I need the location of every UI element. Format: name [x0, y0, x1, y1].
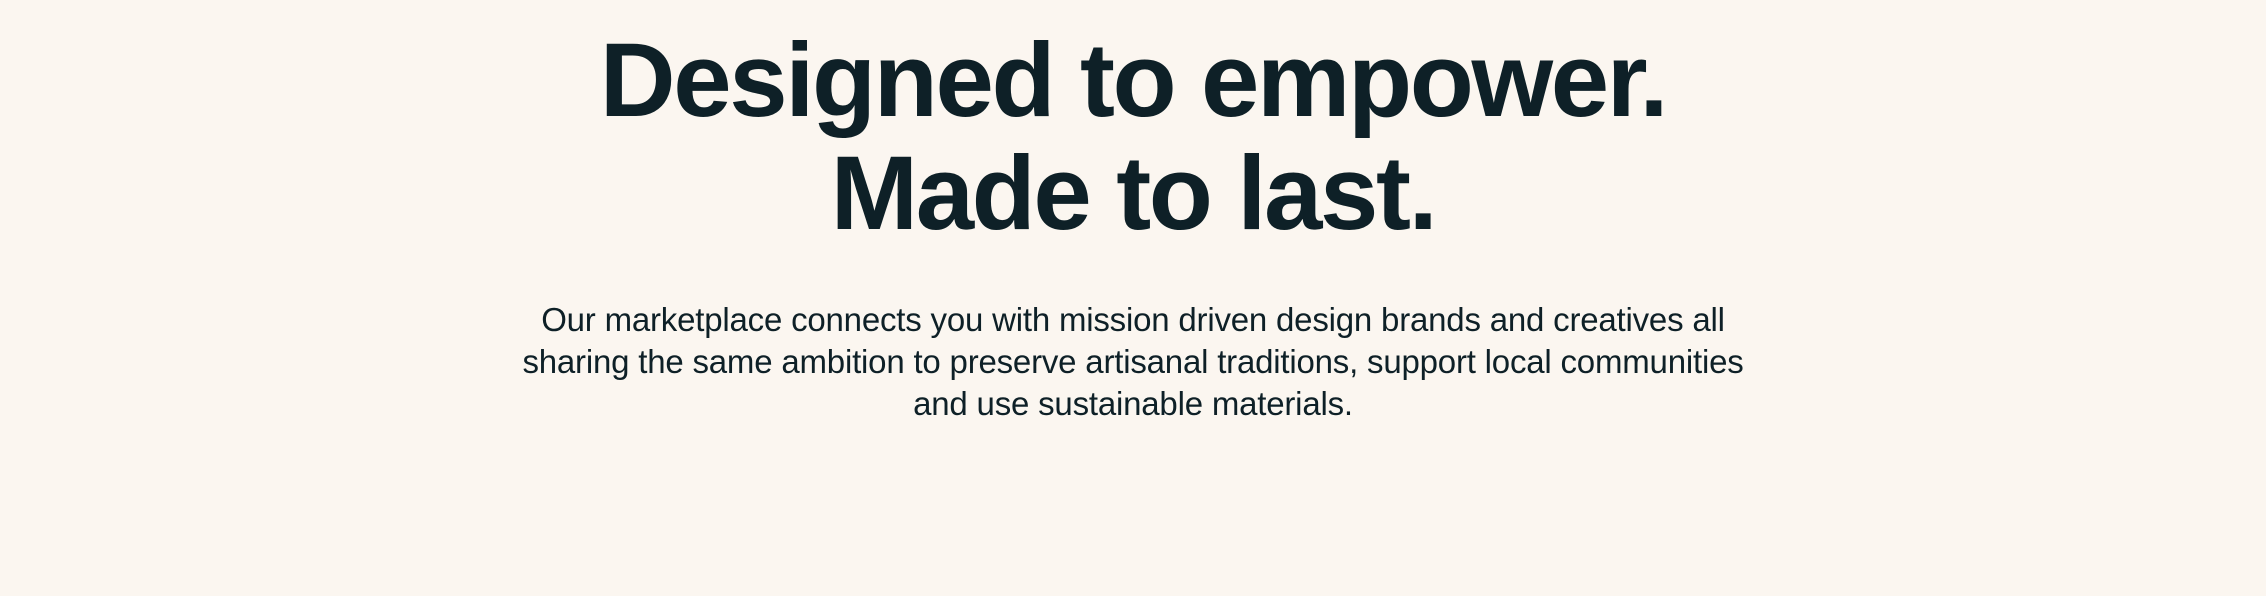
hero-description-line-3: and use sustainable materials. [522, 383, 1743, 425]
page-title: Designed to empower. Made to last. [600, 24, 1666, 251]
hero-description: Our marketplace connects you with missio… [522, 299, 1743, 425]
hero-section: Designed to empower. Made to last. Our m… [0, 0, 2266, 596]
hero-description-line-2: sharing the same ambition to preserve ar… [522, 341, 1743, 383]
page-title-line-2: Made to last. [600, 137, 1666, 250]
page-title-line-1: Designed to empower. [600, 24, 1666, 137]
hero-description-line-1: Our marketplace connects you with missio… [522, 299, 1743, 341]
